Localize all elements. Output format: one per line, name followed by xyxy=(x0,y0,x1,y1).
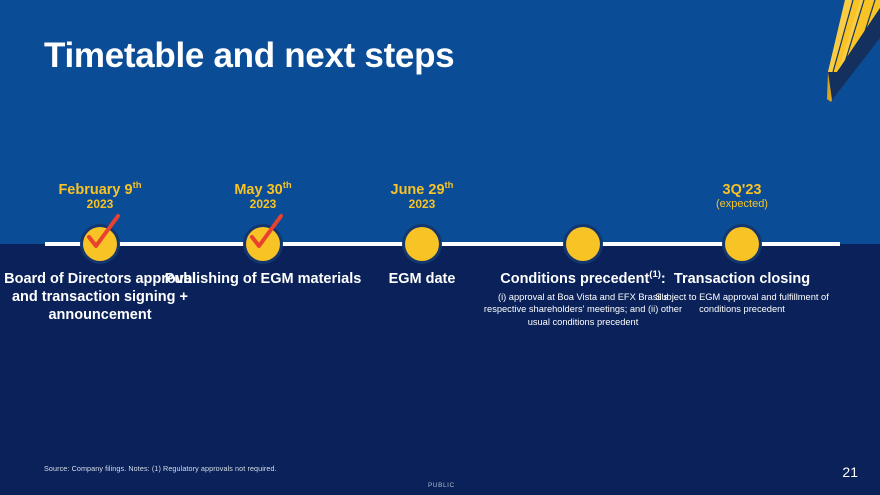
milestone-node-checked[interactable] xyxy=(83,227,117,261)
milestone-label-title: Transaction closing xyxy=(642,270,842,288)
milestone-label-sub: Subject to EGM approval and fulfillment … xyxy=(642,291,842,316)
source-note: Source: Company filings. Notes: (1) Regu… xyxy=(44,464,277,473)
timeline-milestones: February 9th 2023 Board of Directors app… xyxy=(0,0,880,495)
milestone-node-checked[interactable] xyxy=(246,227,280,261)
milestone-node[interactable] xyxy=(405,227,439,261)
milestone-node[interactable] xyxy=(566,227,600,261)
check-icon xyxy=(241,214,285,258)
milestone-date-year: (expected) xyxy=(642,198,842,210)
slide-timetable-and-next-steps: Timetable and next steps February 9th 20… xyxy=(0,0,880,495)
milestone-label: Transaction closing Subject to EGM appro… xyxy=(642,270,842,316)
milestone-node[interactable] xyxy=(725,227,759,261)
classification-label: PUBLIC xyxy=(428,482,455,489)
milestone-transaction-closing[interactable]: 3Q'23 (expected) Transaction closing Sub… xyxy=(642,0,842,495)
milestone-date: 3Q'23 (expected) xyxy=(642,182,842,211)
check-icon xyxy=(78,214,122,258)
milestone-date-main: 3Q'23 xyxy=(642,182,842,198)
page-number: 21 xyxy=(842,464,858,480)
